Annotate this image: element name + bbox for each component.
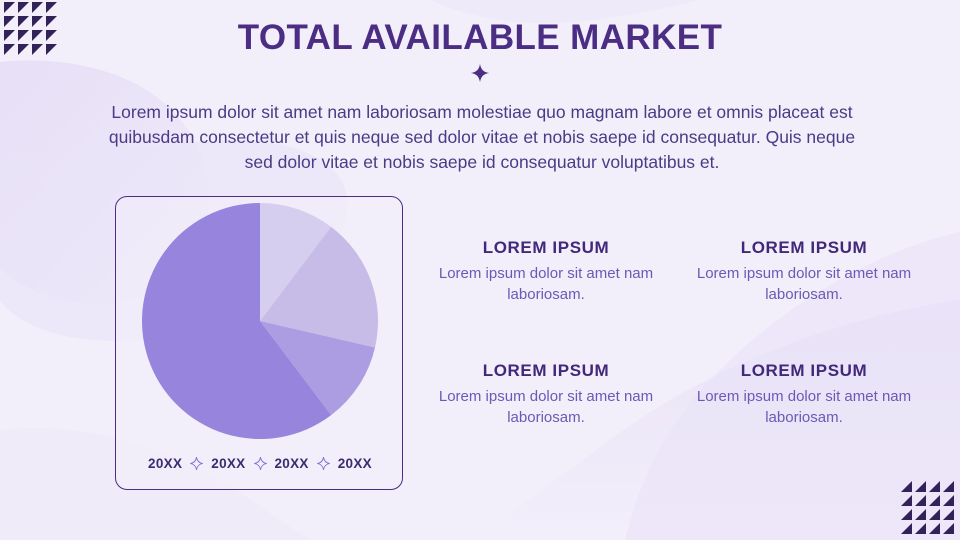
triangle-icon [901,481,912,492]
triangle-icon [901,495,912,506]
feature-title: LOREM IPSUM [430,361,662,381]
triangle-icon [46,2,57,13]
legend-item-4: 20XX [338,456,372,471]
triangle-icon [929,495,940,506]
sparkle-icon [253,456,268,471]
feature-item-3: LOREM IPSUM Lorem ipsum dolor sit amet n… [430,361,662,428]
triangle-icon [32,2,43,13]
triangle-icon [901,509,912,520]
chart-legend: 20XX 20XX 20XX 20XX [116,456,404,471]
pie-slices [142,203,378,439]
triangle-icon [943,523,954,534]
feature-description: Lorem ipsum dolor sit amet nam laboriosa… [430,263,662,305]
slide-canvas: TOTAL AVAILABLE MARKET Lorem ipsum dolor… [0,0,960,540]
pie-chart-card: 20XX 20XX 20XX 20XX [115,196,403,490]
triangle-icon [18,2,29,13]
triangle-icon [943,481,954,492]
triangle-icon [4,2,15,13]
pie-chart [116,197,404,445]
feature-item-2: LOREM IPSUM Lorem ipsum dolor sit amet n… [688,238,920,305]
feature-description: Lorem ipsum dolor sit amet nam laboriosa… [688,386,920,428]
triangle-pattern-icon-bottom-right [901,481,954,534]
triangle-icon [943,509,954,520]
slide-header: TOTAL AVAILABLE MARKET [0,16,960,84]
sparkle-icon [189,456,204,471]
legend-item-1: 20XX [148,456,182,471]
legend-item-3: 20XX [275,456,309,471]
triangle-icon [929,523,940,534]
triangle-icon [943,495,954,506]
triangle-icon [915,509,926,520]
triangle-icon [929,509,940,520]
feature-description: Lorem ipsum dolor sit amet nam laboriosa… [430,386,662,428]
triangle-icon [915,481,926,492]
feature-description: Lorem ipsum dolor sit amet nam laboriosa… [688,263,920,305]
sparkle-icon [469,62,491,84]
feature-item-4: LOREM IPSUM Lorem ipsum dolor sit amet n… [688,361,920,428]
triangle-icon [915,523,926,534]
triangle-icon [929,481,940,492]
feature-title: LOREM IPSUM [688,238,920,258]
feature-grid: LOREM IPSUM Lorem ipsum dolor sit amet n… [430,238,920,428]
feature-item-1: LOREM IPSUM Lorem ipsum dolor sit amet n… [430,238,662,305]
feature-title: LOREM IPSUM [430,238,662,258]
triangle-icon [901,523,912,534]
sparkle-icon [316,456,331,471]
triangle-icon [915,495,926,506]
intro-paragraph: Lorem ipsum dolor sit amet nam laboriosa… [104,100,860,175]
page-title: TOTAL AVAILABLE MARKET [0,16,960,60]
feature-title: LOREM IPSUM [688,361,920,381]
legend-item-2: 20XX [211,456,245,471]
